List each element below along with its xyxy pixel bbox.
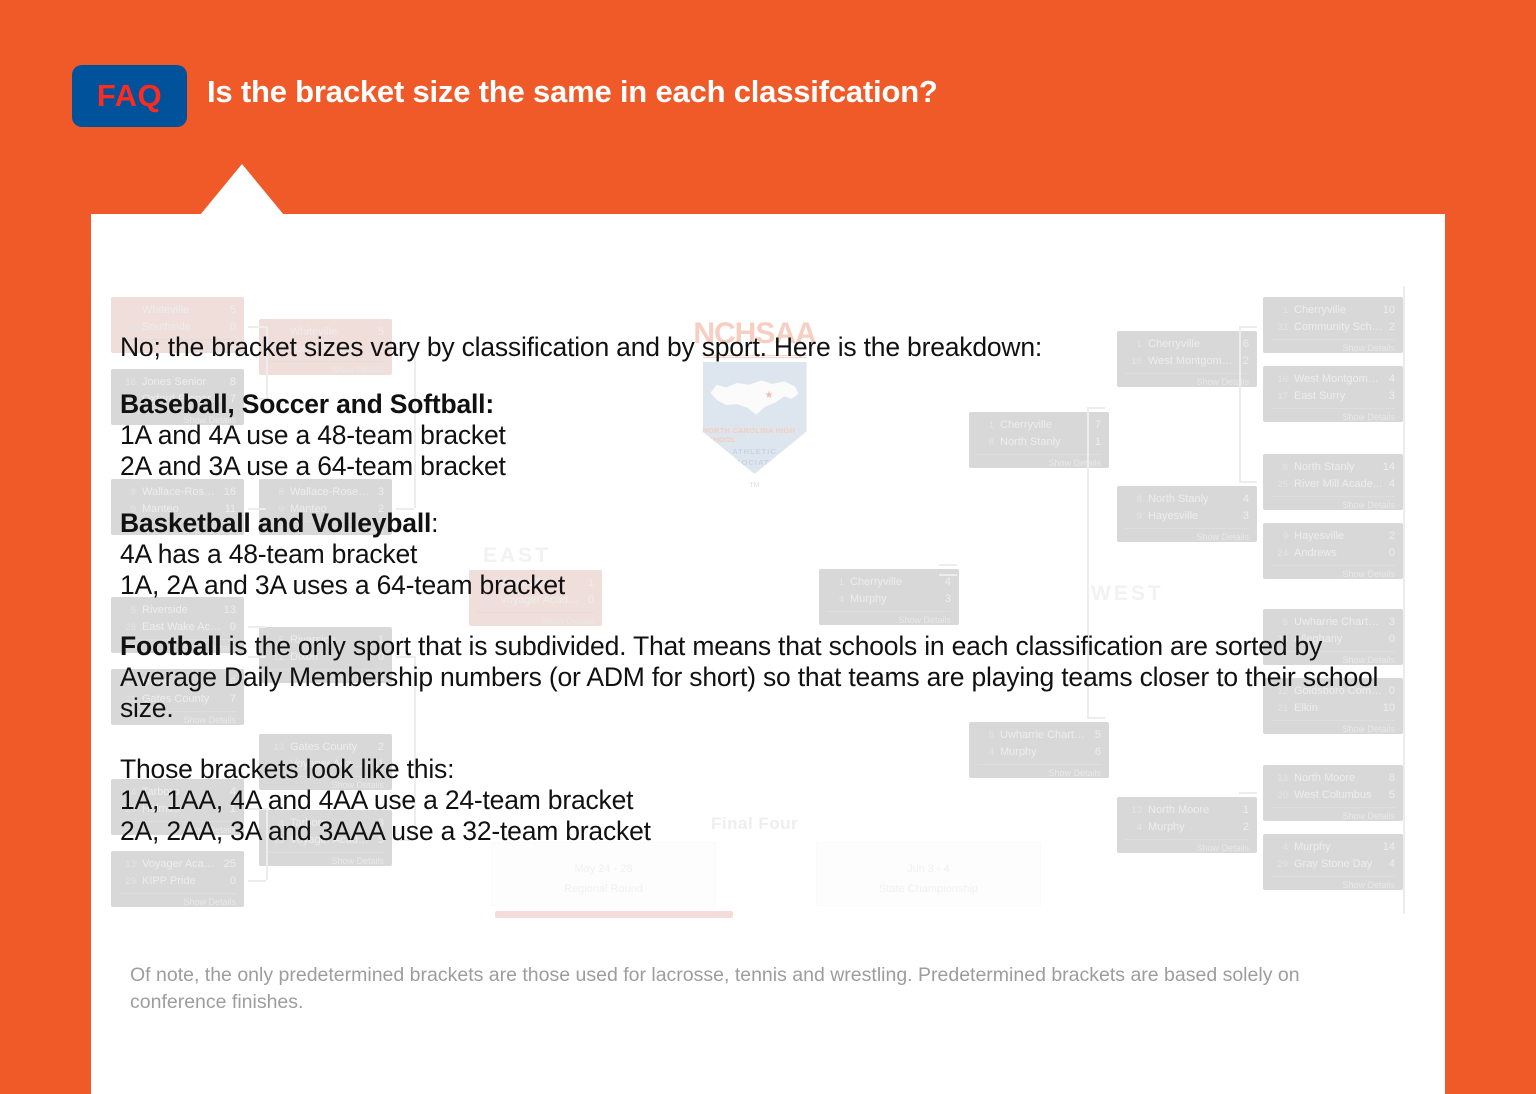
faq-answer-card: 1Whiteville532Southside0Show Details16Jo… — [91, 214, 1445, 1094]
faq-badge: FAQ — [72, 65, 187, 127]
show-details-link[interactable]: Show Details — [267, 852, 384, 866]
bracket-connector-line — [248, 326, 266, 328]
bracket-team-name: Whiteville — [142, 302, 224, 319]
show-details-link[interactable]: Show Details — [119, 893, 236, 907]
football-paragraph: Football is the only sport that is subdi… — [120, 631, 1420, 724]
bracket-team-row: 13Voyager Academy25 — [119, 856, 236, 873]
bracket-team-name: Voyager Academy — [142, 856, 218, 873]
bracket-team-name: Gray Stone Day — [1294, 856, 1383, 873]
closing-line: 1A, 1AA, 4A and 4AA use a 24-team bracke… — [120, 785, 1420, 816]
bracket-team-score: 5 — [230, 302, 236, 319]
bracket-team-row: 29KIPP Pride0 — [119, 873, 236, 890]
football-rest-text: is the only sport that is subdivided. Th… — [120, 631, 1378, 723]
bracket-team-row: 29Gray Stone Day4 — [1271, 856, 1395, 873]
bracket-progress-bar[interactable] — [495, 911, 733, 918]
show-details-link[interactable]: Show Details — [1271, 876, 1395, 890]
bracket-seed: 13 — [119, 856, 136, 873]
final-four-round-box[interactable]: Jun 3 - 4State Championship — [816, 842, 1041, 906]
bracket-team-score: 4 — [1389, 856, 1395, 873]
bracket-seed: 1 — [1271, 302, 1288, 319]
closing-intro: Those brackets look like this: — [120, 754, 1420, 785]
section-line: 2A and 3A use a 64-team bracket — [120, 451, 1420, 482]
bracket-game-card[interactable]: 13Voyager Academy2529KIPP Pride0Show Det… — [111, 851, 244, 907]
faq-question-title: Is the bracket size the same in each cla… — [207, 74, 938, 110]
footnote-text: Of note, the only predetermined brackets… — [130, 962, 1390, 1016]
card-pointer-arrow — [200, 164, 284, 215]
section-line: 1A and 4A use a 48-team bracket — [120, 420, 1420, 451]
bracket-team-name: Cherryville — [1294, 302, 1377, 319]
bracket-seed: 1 — [119, 302, 136, 319]
answer-body: No; the bracket sizes vary by classifica… — [120, 332, 1420, 847]
football-bold-label: Football — [120, 631, 221, 661]
faq-badge-label: FAQ — [97, 78, 162, 114]
final-four-round-box[interactable]: May 24 - 28Regional Round — [491, 842, 716, 906]
round-dates: May 24 - 28 — [492, 859, 715, 879]
round-name: State Championship — [817, 879, 1040, 899]
answer-intro: No; the bracket sizes vary by classifica… — [120, 332, 1420, 363]
round-dates: Jun 3 - 4 — [817, 859, 1040, 879]
bracket-team-row: 1Whiteville5 — [119, 302, 236, 319]
section-line: 1A, 2A and 3A uses a 64-team bracket — [120, 570, 1420, 601]
bracket-connector-line — [1239, 326, 1257, 328]
bracket-team-row: 1Cherryville10 — [1271, 302, 1395, 319]
bracket-team-name: KIPP Pride — [142, 873, 224, 890]
section-heading-label: Basketball and Volleyball — [120, 508, 431, 538]
bracket-team-score: 10 — [1383, 302, 1395, 319]
bracket-connector-line — [248, 880, 266, 882]
round-name: Regional Round — [492, 879, 715, 899]
section-line: 4A has a 48-team bracket — [120, 539, 1420, 570]
section-heading-sports-2: Basketball and Volleyball: — [120, 508, 1420, 539]
section-heading-colon: : — [431, 508, 438, 538]
bracket-seed: 29 — [119, 873, 136, 890]
section-heading-sports-1: Baseball, Soccer and Softball: — [120, 389, 1420, 420]
bracket-seed: 29 — [1271, 856, 1288, 873]
closing-line: 2A, 2AA, 3A and 3AAA use a 32-team brack… — [120, 816, 1420, 847]
section-heading-label: Baseball, Soccer and Softball: — [120, 389, 494, 419]
bracket-team-score: 25 — [224, 856, 236, 873]
bracket-team-score: 0 — [230, 873, 236, 890]
